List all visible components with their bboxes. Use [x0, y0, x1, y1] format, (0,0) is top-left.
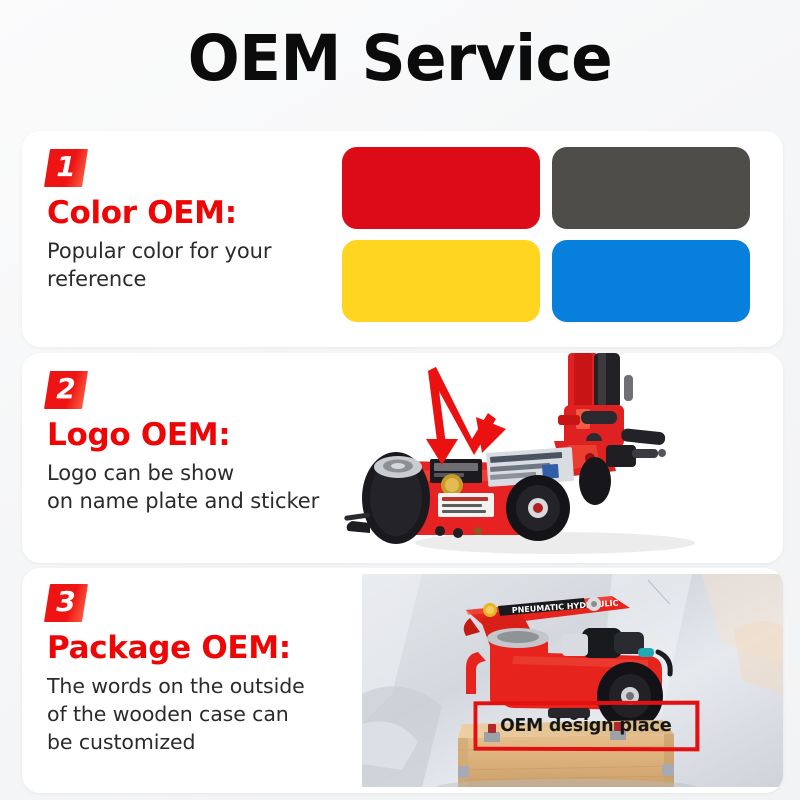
badge-number-label: 1	[47, 149, 85, 187]
oem-design-place-label: OEM design place	[500, 716, 672, 736]
card-3-text-column: 3 Package OEM: The words on the outside …	[22, 568, 342, 793]
step-number-badge-3: 3	[47, 584, 85, 622]
card-1-body: Popular color for your reference	[47, 238, 342, 294]
blue-swatch	[552, 240, 750, 322]
gray-swatch	[552, 147, 750, 229]
card-2-body: Logo can be show on name plate and stick…	[47, 460, 342, 516]
badge-number-label: 3	[47, 584, 85, 622]
crate-package-photo: PNEUMATIC HYDRAULIC	[362, 574, 783, 787]
color-swatch-grid	[342, 147, 764, 339]
card-2-heading: Logo OEM:	[47, 419, 342, 451]
section-card-color-oem: 1 Color OEM: Popular color for your refe…	[22, 131, 783, 347]
step-number-badge-2: 2	[47, 371, 85, 409]
card-3-body: The words on the outside of the wooden c…	[47, 673, 342, 757]
yellow-swatch	[342, 240, 540, 322]
jack-product-photo	[340, 353, 783, 563]
oem-sections-list: 1 Color OEM: Popular color for your refe…	[22, 131, 783, 793]
jack-illustration	[340, 353, 783, 563]
section-card-logo-oem: 2 Logo OEM: Logo can be show on name pla…	[22, 353, 783, 563]
card-1-text-column: 1 Color OEM: Popular color for your refe…	[22, 131, 342, 347]
badge-number-label: 2	[47, 371, 85, 409]
oem-design-place-box: OEM design place	[474, 701, 700, 752]
crate-illustration: PNEUMATIC HYDRAULIC	[362, 574, 783, 787]
card-1-heading: Color OEM:	[47, 197, 342, 229]
page-title: OEM Service	[12, 0, 788, 90]
red-swatch	[342, 147, 540, 229]
step-number-badge-1: 1	[47, 149, 85, 187]
section-card-package-oem: 3 Package OEM: The words on the outside …	[22, 568, 783, 793]
card-3-heading: Package OEM:	[47, 632, 342, 664]
card-2-text-column: 2 Logo OEM: Logo can be show on name pla…	[22, 353, 342, 563]
